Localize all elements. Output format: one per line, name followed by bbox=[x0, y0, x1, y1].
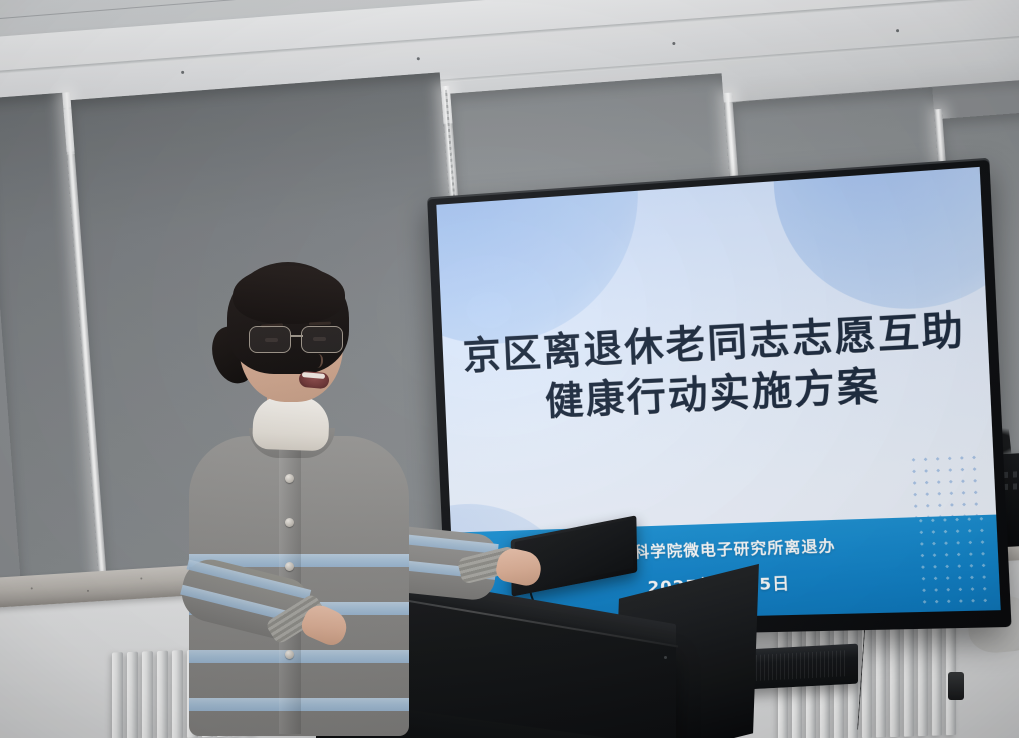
lectern-screw-icon bbox=[664, 656, 667, 659]
slide-blob-top-right-icon bbox=[768, 167, 1001, 316]
room-photo-scene: 京区离退休老同志志愿互助 健康行动实施方案 中国科学院微电子研究所离退办 202… bbox=[0, 0, 1019, 738]
pipe-valve bbox=[948, 672, 964, 700]
eyeglass-lens-left bbox=[249, 326, 291, 353]
eyeglasses-icon bbox=[249, 326, 347, 354]
cardigan-button bbox=[285, 474, 294, 483]
speaker-hair-fringe bbox=[233, 266, 345, 324]
speaker bbox=[175, 268, 435, 738]
speaker-turtleneck bbox=[252, 395, 330, 452]
speaker-nose bbox=[311, 354, 323, 368]
cardigan-button bbox=[285, 518, 294, 527]
slide-band-dot-grid-icon bbox=[915, 515, 990, 606]
cardigan-button bbox=[285, 650, 294, 659]
cardigan-button bbox=[285, 562, 294, 571]
eyeglass-lens-right bbox=[301, 326, 343, 353]
